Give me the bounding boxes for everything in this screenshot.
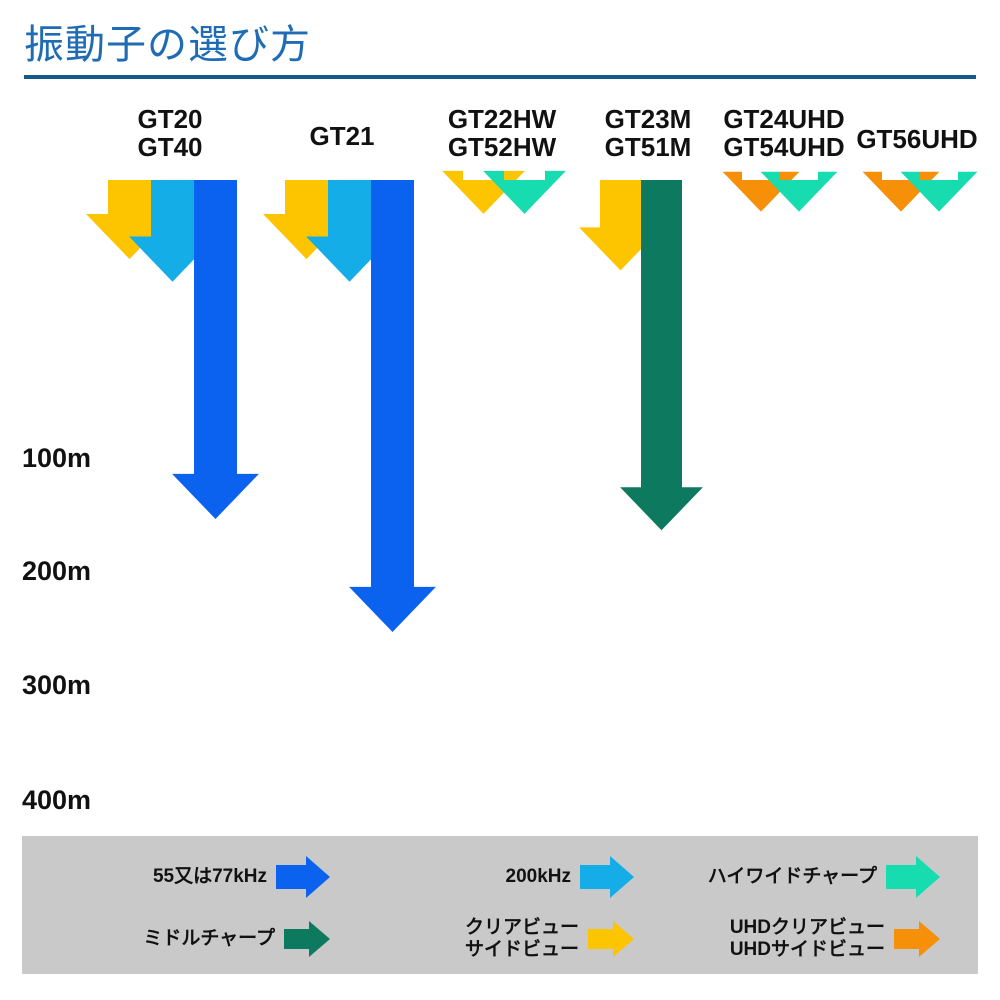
column-header-line: GT52HW — [420, 133, 584, 161]
legend-label: クリアビュー サイドビュー — [465, 917, 579, 961]
legend-arrow-high-wide-chirp — [886, 854, 940, 900]
legend-label: 55又は77kHz — [153, 866, 267, 888]
legend-label-line: UHDサイドビュー — [730, 939, 885, 961]
column-header-line: GT21 — [272, 122, 412, 150]
legend-item-middle-chirp[interactable]: ミドルチャープ — [80, 918, 330, 960]
legend-arrow-middle-chirp — [284, 919, 330, 959]
legend-label: 200kHz — [506, 866, 572, 888]
beam-arrow-gt22hw-gt52hw-clear-side-view — [442, 171, 525, 214]
column-header-gt56uhd: GT56UHD — [842, 125, 992, 153]
page-title: 振動子の選び方 — [24, 12, 311, 70]
legend-arrow-200khz — [580, 854, 634, 900]
legend-item-clear-side-view[interactable]: クリアビュー サイドビュー — [384, 914, 634, 964]
column-header-gt22hw-gt52hw: GT22HW GT52HW — [420, 105, 584, 161]
legend-arrow-uhd-clear-side-view — [894, 919, 940, 959]
beam-arrow-gt21-200khz — [306, 180, 393, 282]
column-header-line: GT20 — [100, 105, 240, 133]
beam-arrow-gt23m-gt51m-clear-side-view — [579, 180, 662, 270]
legend-item-55-or-77khz[interactable]: 55又は77kHz — [80, 854, 330, 900]
legend-label-line: UHDクリアビュー — [730, 917, 885, 939]
depth-label-300m: 300m — [22, 670, 91, 701]
beam-arrow-gt24uhd-gt54uhd-uhd-clear-side-view — [723, 172, 800, 212]
legend-item-high-wide-chirp[interactable]: ハイワイドチャープ — [650, 854, 940, 900]
depth-label-400m: 400m — [22, 785, 91, 816]
legend-label-line: 200kHz — [506, 866, 572, 888]
beam-arrow-gt20-gt40-55-or-77khz — [172, 180, 259, 519]
beam-arrow-gt20-gt40-200khz — [129, 180, 216, 282]
legend-label-line: ミドルチャープ — [143, 928, 275, 950]
legend-item-200khz[interactable]: 200kHz — [384, 854, 634, 900]
diagram-page: 振動子の選び方 GT20 GT40 GT21 GT22HW GT52HW GT2… — [0, 0, 1000, 1000]
legend-item-uhd-clear-side-view[interactable]: UHDクリアビュー UHDサイドビュー — [650, 914, 940, 964]
depth-label-200m: 200m — [22, 556, 91, 587]
column-header-gt21: GT21 — [272, 122, 412, 150]
beam-arrow-gt24uhd-gt54uhd-high-wide-chirp — [761, 172, 838, 212]
legend-arrow-clear-side-view — [588, 919, 634, 959]
beam-arrow-gt21-clear-side-view — [263, 180, 350, 259]
beam-arrow-gt56uhd-high-wide-chirp — [901, 172, 978, 212]
legend-label-line: クリアビュー — [465, 917, 579, 939]
beam-arrow-gt23m-gt51m-middle-chirp — [620, 180, 703, 530]
legend-label-line: ハイワイドチャープ — [708, 866, 877, 888]
legend-label: ハイワイドチャープ — [708, 866, 877, 888]
legend-label-line: 55又は77kHz — [153, 866, 267, 888]
beam-arrow-gt56uhd-uhd-clear-side-view — [863, 172, 940, 212]
legend-label: ミドルチャープ — [143, 928, 275, 950]
beam-arrow-gt21-55-or-77khz — [349, 180, 436, 632]
beam-arrow-gt22hw-gt52hw-high-wide-chirp — [483, 171, 566, 214]
legend-label: UHDクリアビュー UHDサイドビュー — [730, 917, 885, 961]
depth-label-100m: 100m — [22, 443, 91, 474]
column-header-line: GT22HW — [420, 105, 584, 133]
column-header-gt20-gt40: GT20 GT40 — [100, 105, 240, 161]
legend-arrow-55-or-77khz — [276, 854, 330, 900]
column-header-line: GT40 — [100, 133, 240, 161]
legend-label-line: サイドビュー — [465, 939, 579, 961]
beam-arrow-gt20-gt40-clear-side-view — [86, 180, 173, 259]
legend-panel: 55又は77kHz 200kHz ハイワイドチャープ ミドルチャ — [22, 836, 978, 974]
column-header-line: GT56UHD — [842, 125, 992, 153]
title-divider — [24, 75, 976, 79]
